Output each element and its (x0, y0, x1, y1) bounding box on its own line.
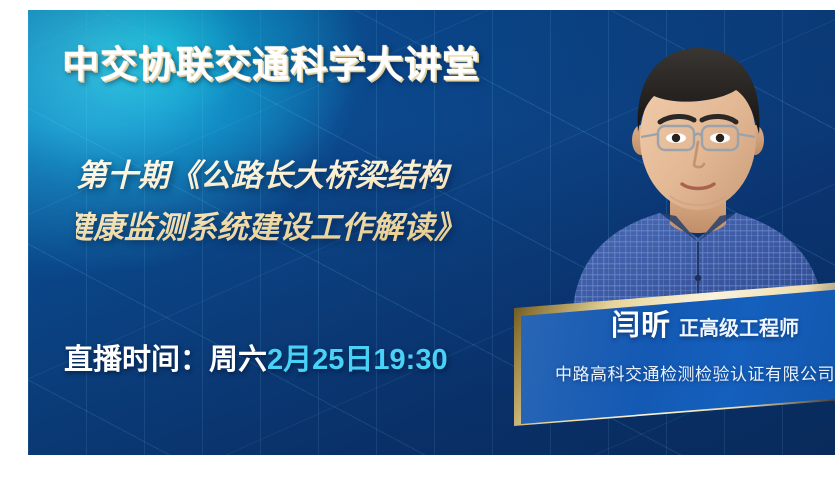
speaker-name: 闫昕 (611, 310, 671, 342)
episode-subtitle-line1: 第十期《公路长大桥梁结构 (76, 150, 465, 202)
broadcast-time: 直播时间：周六2月25日19:30 (64, 336, 448, 378)
broadcast-time-value: 2月25日19:30 (267, 344, 448, 376)
speaker-photo (548, 10, 835, 310)
poster-artwork-panel: 中交协联交通科学大讲堂 第十期《公路长大桥梁结构 健康监测系统建设工作解读》 直… (28, 10, 835, 455)
speaker-organization: 中路高科交通检测检验认证有限公司 (532, 360, 835, 385)
page-title: 中交协联交通科学大讲堂 (62, 34, 480, 88)
speaker-identity-row: 闫昕正高级工程师 (552, 312, 835, 341)
speaker-portrait-illustration (548, 10, 835, 310)
speaker-nameplate: 闫昕正高级工程师 中路高科交通检测检验认证有限公司 (512, 278, 835, 426)
speaker-title: 正高级工程师 (679, 318, 799, 340)
pupil-right (716, 134, 724, 142)
episode-subtitle: 第十期《公路长大桥梁结构 健康监测系统建设工作解读》 (76, 150, 465, 254)
poster-canvas: 中交协联交通科学大讲堂 第十期《公路长大桥梁结构 健康监测系统建设工作解读》 直… (0, 0, 840, 480)
broadcast-time-label: 直播时间：周六 (64, 344, 267, 376)
episode-subtitle-line2: 健康监测系统建设工作解读》 (62, 202, 465, 254)
pupil-left (672, 134, 680, 142)
